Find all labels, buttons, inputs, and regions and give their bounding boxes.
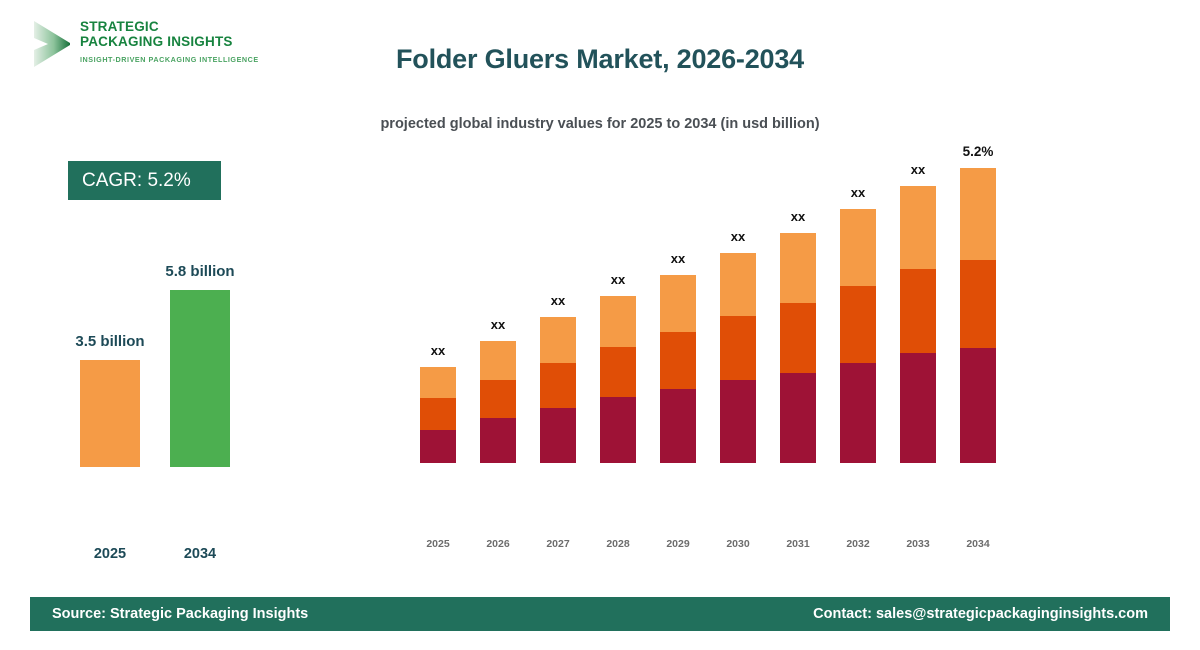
- footer-bar: Source: Strategic Packaging Insights Con…: [30, 597, 1170, 631]
- stacked-bar-segment-bottom: [720, 380, 756, 463]
- stacked-bar-year-label: 2025: [408, 538, 468, 550]
- stacked-bar-segment-middle: [480, 380, 516, 418]
- stacked-bar-segment-bottom: [600, 397, 636, 463]
- stacked-bar-year-label: 2030: [708, 538, 768, 550]
- stacked-bar-segment-top: [900, 186, 936, 269]
- stacked-bar-segment-top: [960, 168, 996, 260]
- stacked-bar-value-label: xx: [528, 293, 588, 308]
- stacked-bar-value-label: xx: [648, 251, 708, 266]
- stacked-bar: [900, 186, 936, 463]
- footer-source: Source: Strategic Packaging Insights: [52, 606, 308, 622]
- stacked-bar: [720, 253, 756, 463]
- stacked-bar-value-label: xx: [768, 209, 828, 224]
- stacked-bar-segment-middle: [780, 303, 816, 373]
- stacked-bar: [660, 275, 696, 463]
- stacked-bar-segment-middle: [660, 332, 696, 389]
- stacked-bar: [840, 209, 876, 463]
- stacked-bar-year-label: 2033: [888, 538, 948, 550]
- stacked-bar-segment-middle: [900, 269, 936, 353]
- stacked-bar-year-label: 2026: [468, 538, 528, 550]
- stacked-bar-segment-bottom: [960, 348, 996, 463]
- stacked-bar-segment-top: [660, 275, 696, 332]
- stacked-bar-segment-middle: [720, 316, 756, 380]
- stacked-bar-segment-bottom: [900, 353, 936, 463]
- stacked-bar-segment-middle: [420, 398, 456, 430]
- stacked-bar-segment-middle: [840, 286, 876, 363]
- stacked-bar-value-label: xx: [828, 185, 888, 200]
- stacked-bar-segment-bottom: [480, 418, 516, 463]
- stacked-bar: [420, 367, 456, 463]
- stacked-bar-segment-bottom: [660, 389, 696, 463]
- stacked-bar-segment-top: [720, 253, 756, 316]
- stacked-bar-segment-bottom: [420, 430, 456, 463]
- stacked-bar-segment-middle: [600, 347, 636, 397]
- stacked-bar-segment-bottom: [540, 408, 576, 463]
- stacked-bar-value-label: xx: [588, 272, 648, 287]
- stacked-bar-segment-middle: [540, 363, 576, 408]
- stacked-bar-segment-bottom: [780, 373, 816, 463]
- stacked-bar-segment-top: [840, 209, 876, 286]
- stacked-bar-value-label: xx: [468, 317, 528, 332]
- stacked-bar-value-label: 5.2%: [948, 144, 1008, 159]
- stacked-bar-segment-top: [420, 367, 456, 398]
- stacked-bar: [540, 317, 576, 463]
- stacked-bar-value-label: xx: [408, 343, 468, 358]
- stacked-bar-segment-bottom: [840, 363, 876, 463]
- stacked-bar: [480, 341, 516, 463]
- stacked-bar-segment-top: [780, 233, 816, 303]
- stacked-bar-segment-top: [540, 317, 576, 363]
- infographic-page: STRATEGIC PACKAGING INSIGHTS INSIGHT-DRI…: [0, 0, 1200, 650]
- stacked-bar-value-label: xx: [708, 229, 768, 244]
- stacked-forecast-chart: xx2025xx2026xx2027xx2028xx2029xx2030xx20…: [0, 0, 1200, 580]
- stacked-bar: [780, 233, 816, 463]
- stacked-bar: [960, 168, 996, 463]
- footer-contact: Contact: sales@strategicpackaginginsight…: [813, 606, 1148, 622]
- stacked-bar-value-label: xx: [888, 162, 948, 177]
- stacked-bar-year-label: 2029: [648, 538, 708, 550]
- stacked-bar-segment-top: [600, 296, 636, 347]
- stacked-bar-year-label: 2034: [948, 538, 1008, 550]
- stacked-bar-year-label: 2027: [528, 538, 588, 550]
- stacked-bar-year-label: 2032: [828, 538, 888, 550]
- stacked-bar-segment-top: [480, 341, 516, 380]
- stacked-bar-segment-middle: [960, 260, 996, 348]
- stacked-bar: [600, 296, 636, 463]
- stacked-bar-year-label: 2031: [768, 538, 828, 550]
- stacked-bar-year-label: 2028: [588, 538, 648, 550]
